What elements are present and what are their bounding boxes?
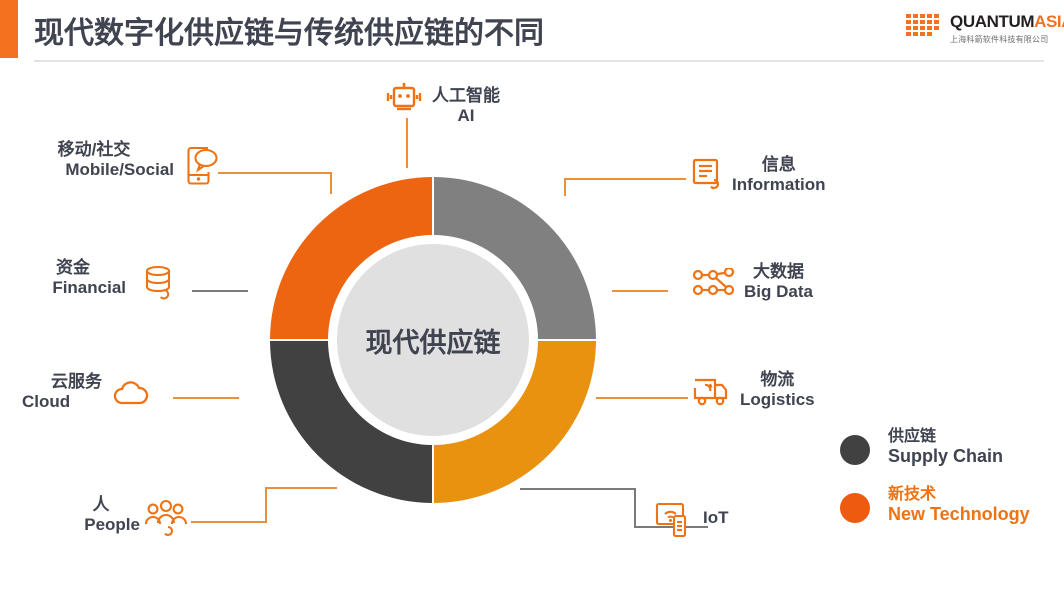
document-link-icon — [690, 157, 726, 193]
node-mobile-cn: 移动/社交 — [14, 140, 174, 160]
node-financial-en: Financial — [20, 278, 126, 298]
connector-ai — [406, 118, 408, 168]
node-logistics-cn: 物流 — [740, 370, 815, 390]
node-cloud-cn: 云服务 — [22, 372, 102, 392]
node-bigdata-en: Big Data — [744, 282, 813, 302]
legend-dot-new-technology — [840, 493, 870, 523]
node-financial-cn: 资金 — [20, 258, 126, 278]
node-ai-cn: 人工智能 — [432, 86, 500, 106]
legend-dot-supply-chain — [840, 435, 870, 465]
node-cloud-en: Cloud — [22, 392, 102, 412]
donut-center-disc — [337, 244, 529, 436]
node-bigdata-labels: 大数据 Big Data — [744, 262, 813, 302]
header-divider — [34, 60, 1044, 62]
logo-dot-grid-icon — [906, 14, 946, 42]
node-people-cn: 人 — [62, 495, 140, 515]
connector-logistics — [596, 397, 688, 399]
node-logistics-en: Logistics — [740, 390, 815, 410]
node-cloud-labels: 云服务 Cloud — [22, 372, 102, 412]
legend-item-new-technology[interactable]: 新技术 New Technology — [840, 483, 1060, 541]
node-mobile-labels: 移动/社交 Mobile/Social — [14, 140, 174, 180]
node-information-en: Information — [732, 175, 826, 195]
robot-icon — [384, 82, 424, 118]
legend-supply-chain-cn: 供应链 — [888, 427, 1003, 446]
page-header: 现代数字化供应链与传统供应链的不同 QUANTUMASIA 上海科箭软件科技有限… — [0, 0, 1064, 62]
node-information-cn: 信息 — [732, 155, 826, 175]
logo-wordmark: QUANTUMASIA — [950, 12, 1064, 32]
chart-legend: 供应链 Supply Chain 新技术 New Technology — [840, 425, 1060, 541]
legend-labels-supply-chain: 供应链 Supply Chain — [888, 427, 1003, 468]
node-financial-labels: 资金 Financial — [20, 258, 126, 298]
logo-subtitle: 上海科箭软件科技有限公司 — [950, 34, 1048, 45]
node-iot-en: IoT — [703, 508, 729, 528]
company-logo: QUANTUMASIA 上海科箭软件科技有限公司 — [906, 10, 1056, 50]
donut-svg — [258, 165, 608, 515]
connector-cloud — [173, 397, 239, 399]
iot-device-icon — [655, 500, 689, 538]
node-people-labels: 人 People — [62, 495, 140, 535]
database-link-icon — [144, 264, 180, 302]
legend-supply-chain-en: Supply Chain — [888, 446, 1003, 468]
node-logistics-labels: 物流 Logistics — [740, 370, 815, 410]
legend-new-technology-en: New Technology — [888, 504, 1030, 526]
header-accent-bar — [0, 0, 18, 58]
logo-word-quantum: QUANTUM — [950, 12, 1034, 31]
cloud-icon — [110, 380, 152, 410]
page-title: 现代数字化供应链与传统供应链的不同 — [34, 8, 544, 52]
connector-financial — [192, 290, 248, 292]
node-ai-en: AI — [432, 106, 500, 126]
legend-new-technology-cn: 新技术 — [888, 485, 1030, 504]
connector-bigdata — [612, 290, 668, 292]
truck-icon — [692, 374, 732, 408]
node-mobile-en: Mobile/Social — [14, 160, 174, 180]
node-people-en: People — [62, 515, 140, 535]
people-icon — [144, 499, 188, 537]
logo-word-asia: ASIA — [1034, 12, 1064, 31]
legend-labels-new-technology: 新技术 New Technology — [888, 485, 1030, 526]
supply-chain-donut-chart: 现代供应链 — [258, 165, 608, 515]
phone-chat-icon — [186, 144, 220, 188]
node-bigdata-cn: 大数据 — [744, 262, 813, 282]
legend-item-supply-chain[interactable]: 供应链 Supply Chain — [840, 425, 1060, 483]
node-ai-labels: 人工智能 AI — [432, 86, 500, 126]
node-iot-labels: IoT — [703, 508, 729, 528]
node-information-labels: 信息 Information — [732, 155, 826, 195]
network-nodes-icon — [692, 268, 736, 298]
